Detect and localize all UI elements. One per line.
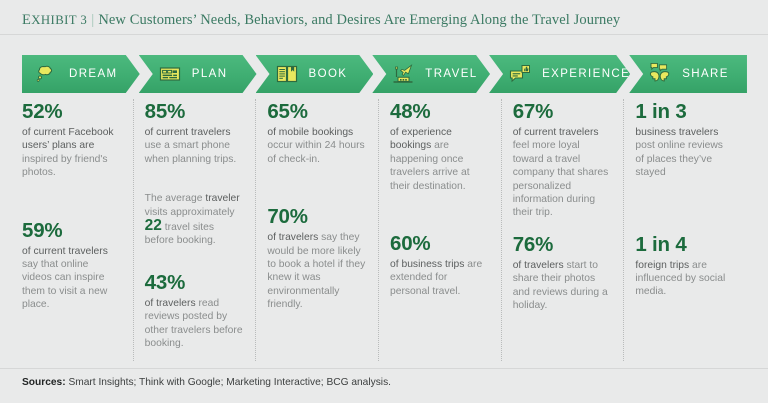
stat-text-lead: of current travelers: [513, 127, 599, 138]
stage-share[interactable]: SHARE: [629, 55, 747, 93]
stat-text-rest: say that online videos can inspire them …: [22, 259, 107, 310]
stat-number: 1 in 3: [635, 99, 734, 124]
stat-text-lead: of business trips: [390, 259, 464, 270]
stage-label: DREAM: [69, 68, 118, 80]
chat-thumbsup-icon: [507, 61, 533, 87]
stat-block: 67% of current travelers feel more loyal…: [513, 99, 612, 220]
column-share: 1 in 3 business travelers post online re…: [623, 99, 746, 361]
stat-text: of current travelers use a smart phone w…: [145, 126, 244, 166]
stat-block: 52% of current Facebook users’ plans are…: [22, 99, 121, 180]
column-book: 65% of mobile bookings occur within 24 h…: [255, 99, 378, 361]
stat-text-rest: inspired by friend's photos.: [22, 154, 108, 178]
stat-text-lead: foreign trips: [635, 260, 689, 271]
title-heading: New Customers’ Needs, Behaviors, and Des…: [98, 12, 620, 28]
stat-number: 85%: [145, 99, 244, 124]
stage-book[interactable]: BOOK: [256, 55, 374, 93]
stage-label: TRAVEL: [425, 68, 477, 80]
stat-text-rest: occur within 24 hours of check-in.: [267, 140, 364, 164]
airport-plane-icon: [390, 61, 416, 87]
stat-text-lead: of travelers: [145, 298, 196, 309]
stat-text: of travelers say they would be more like…: [267, 231, 366, 311]
stat-text-lead: of current travelers: [145, 127, 231, 138]
stat-text-lead: traveler: [205, 193, 239, 204]
stat-block: 85% of current travelers use a smart pho…: [145, 99, 244, 166]
stat-number: 43%: [145, 270, 244, 295]
journey-stage-strip: DREAM PLAN: [22, 55, 746, 93]
people-talking-icon: [647, 61, 673, 87]
thought-cloud-icon: [34, 61, 60, 87]
stat-number: 48%: [390, 99, 489, 124]
stat-text: business travelers post online reviews o…: [635, 126, 734, 180]
stat-text: foreign trips are influenced by social m…: [635, 259, 734, 299]
stat-text-lead: of travelers: [267, 232, 318, 243]
title-divider: [0, 34, 768, 35]
stat-number: 1 in 4: [635, 232, 734, 257]
stat-block: 76% of travelers start to share their ph…: [513, 232, 612, 313]
sources-line: Sources: Smart Insights; Think with Goog…: [22, 377, 391, 388]
stat-number: 70%: [267, 204, 366, 229]
stat-text: of experience bookings are happening onc…: [390, 126, 489, 193]
stat-number: 52%: [22, 99, 121, 124]
sources-label: Sources:: [22, 377, 66, 388]
stat-number: 76%: [513, 232, 612, 257]
stat-text-mid: visits approximately: [145, 207, 235, 218]
stat-text: of travelers start to share their photos…: [513, 259, 612, 313]
stat-number: 67%: [513, 99, 612, 124]
stat-text: of business trips are extended for perso…: [390, 258, 489, 298]
stage-label: BOOK: [309, 68, 348, 80]
stage-label: EXPERIENCE: [542, 68, 630, 80]
stat-text: of current travelers say that online vid…: [22, 245, 121, 312]
column-travel: 48% of experience bookings are happening…: [378, 99, 501, 361]
stat-block: 70% of travelers say they would be more …: [267, 204, 366, 311]
stat-text-pre: The average: [145, 193, 206, 204]
stat-block: 59% of current travelers say that online…: [22, 218, 121, 312]
open-book-icon: [274, 61, 300, 87]
stat-text: The average traveler visits approximatel…: [145, 192, 244, 248]
stat-text-lead: business travelers: [635, 127, 718, 138]
stats-columns: 52% of current Facebook users’ plans are…: [22, 99, 746, 361]
exhibit-label: EXHIBIT 3: [22, 13, 87, 27]
stage-dream[interactable]: DREAM: [22, 55, 140, 93]
footer-divider: [0, 368, 768, 369]
stat-number: 60%: [390, 231, 489, 256]
stat-number: 65%: [267, 99, 366, 124]
stat-block: 1 in 3 business travelers post online re…: [635, 99, 734, 180]
exhibit-container: EXHIBIT 3|New Customers’ Needs, Behavior…: [0, 0, 768, 403]
stat-text-rest: feel more loyal toward a travel company …: [513, 140, 609, 218]
stat-block: 1 in 4 foreign trips are influenced by s…: [635, 232, 734, 299]
stage-plan[interactable]: PLAN: [139, 55, 257, 93]
page-title: EXHIBIT 3|New Customers’ Needs, Behavior…: [22, 12, 620, 28]
stat-text: of current travelers feel more loyal tow…: [513, 126, 612, 220]
title-separator: |: [87, 12, 98, 28]
stat-block: 60% of business trips are extended for p…: [390, 231, 489, 298]
stat-text-rest: post online reviews of places they’ve st…: [635, 140, 723, 178]
planning-board-icon: [157, 61, 183, 87]
stat-number: 59%: [22, 218, 121, 243]
stat-block: 65% of mobile bookings occur within 24 h…: [267, 99, 366, 166]
stat-block: 48% of experience bookings are happening…: [390, 99, 489, 193]
stat-text-lead: of mobile bookings: [267, 127, 353, 138]
stat-text-rest: use a smart phone when planning trips.: [145, 140, 237, 164]
stat-inline-number: 22: [145, 217, 162, 234]
sources-text: Smart Insights; Think with Google; Marke…: [66, 377, 391, 388]
column-dream: 52% of current Facebook users’ plans are…: [22, 99, 133, 361]
stat-text: of travelers read reviews posted by othe…: [145, 297, 244, 351]
stat-text-lead: of travelers: [513, 260, 564, 271]
stat-block-average-traveler: The average traveler visits approximatel…: [145, 192, 244, 248]
stat-text-rest: say they would be more likely to book a …: [267, 232, 365, 310]
column-experience: 67% of current travelers feel more loyal…: [501, 99, 624, 361]
stage-label: PLAN: [192, 68, 228, 80]
exhibit-title-bar: EXHIBIT 3|New Customers’ Needs, Behavior…: [22, 6, 746, 34]
stat-text-lead: of current Facebook users’ plans are: [22, 127, 114, 151]
column-plan: 85% of current travelers use a smart pho…: [133, 99, 256, 361]
stat-text: of current Facebook users’ plans are ins…: [22, 126, 121, 180]
stage-travel[interactable]: TRAVEL: [372, 55, 490, 93]
stat-text-lead: of current travelers: [22, 246, 108, 257]
stat-block: 43% of travelers read reviews posted by …: [145, 270, 244, 351]
stat-text: of mobile bookings occur within 24 hours…: [267, 126, 366, 166]
stage-experience[interactable]: EXPERIENCE: [489, 55, 630, 93]
stage-label: SHARE: [682, 68, 729, 80]
